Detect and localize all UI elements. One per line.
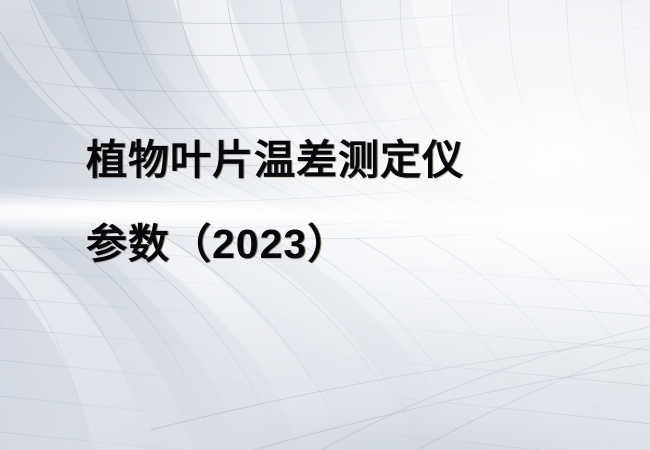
banner-title-line-1: 植物叶片温差测定仪 <box>86 118 606 202</box>
banner-title-line-2: 参数（2023） <box>86 202 606 286</box>
banner-title-block: 植物叶片温差测定仪 参数（2023） <box>86 118 606 286</box>
mesh-accent-lines <box>150 322 650 450</box>
banner-canvas: 植物叶片温差测定仪 参数（2023） <box>0 0 650 450</box>
